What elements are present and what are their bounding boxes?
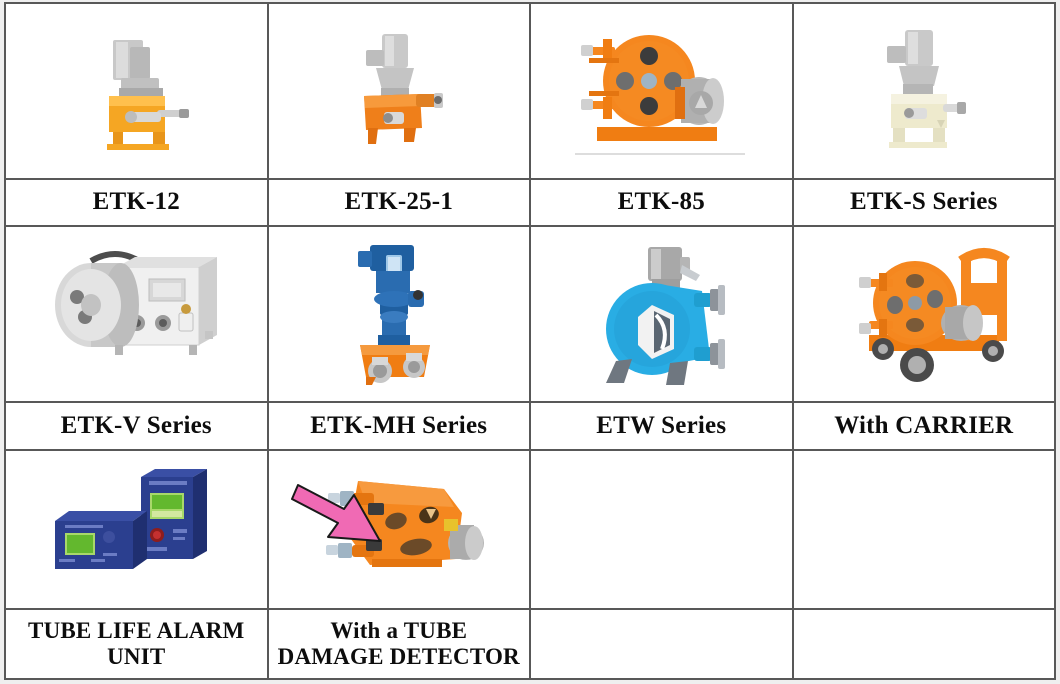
label-inset-frame: ETK-25-1 [269, 180, 530, 226]
cell-label-tube-life-alarm-unit: TUBE LIFE ALARMUNIT [5, 609, 268, 679]
cell-image-with-carrier [793, 226, 1056, 402]
cell-label-etk-mh-series: ETK-MH Series [268, 402, 531, 450]
product-label-etk-25-1: ETK-25-1 [340, 188, 457, 216]
label-inset-frame: ETK-V Series [6, 403, 267, 449]
cell-image-empty-2 [793, 450, 1056, 609]
product-label-etk-s-series: ETK-S Series [846, 188, 1002, 216]
label-inset-frame: ETK-12 [6, 180, 267, 226]
table-row-labels-2: ETK-V Series ETK-MH Series ETW Series Wi… [5, 402, 1055, 450]
cell-image-etk-v-series [5, 226, 268, 402]
tube-life-alarm-unit-photo [6, 451, 267, 608]
label-inset-frame: ETK-S Series [794, 180, 1055, 226]
cell-label-with-carrier: With CARRIER [793, 402, 1056, 450]
table-row-images-1 [5, 3, 1055, 179]
etk-mh-series-pump-photo [269, 227, 530, 401]
table-row-images-2 [5, 226, 1055, 402]
product-label-etk-12: ETK-12 [89, 188, 184, 216]
cell-label-etk-s-series: ETK-S Series [793, 179, 1056, 227]
label-inset-frame: TUBE LIFE ALARMUNIT [6, 610, 267, 678]
product-label-etk-85: ETK-85 [614, 188, 709, 216]
product-label-etk-v-series: ETK-V Series [57, 412, 216, 440]
with-carrier-pump-photo [794, 227, 1055, 401]
label-inset-frame [531, 610, 792, 678]
cell-label-etk-v-series: ETK-V Series [5, 402, 268, 450]
cell-image-tube-life-alarm-unit [5, 450, 268, 609]
cell-image-etw-series [530, 226, 793, 402]
empty-cell [531, 451, 792, 608]
cell-label-etw-series: ETW Series [530, 402, 793, 450]
label-inset-frame: ETK-MH Series [269, 403, 530, 449]
label-inset-frame: ETW Series [531, 403, 792, 449]
product-lineup-table: ETK-12 ETK-25-1 ETK-85 ETK-S Series [4, 2, 1056, 680]
product-label-etw-series: ETW Series [592, 412, 730, 440]
cell-image-etk-mh-series [268, 226, 531, 402]
product-label-etk-mh-series: ETK-MH Series [306, 412, 491, 440]
label-inset-frame: ETK-85 [531, 180, 792, 226]
cell-label-etk-12: ETK-12 [5, 179, 268, 227]
cell-label-empty-1 [530, 609, 793, 679]
product-label-with-carrier: With CARRIER [830, 412, 1017, 440]
cell-image-etk-85 [530, 3, 793, 179]
label-inset-frame [794, 610, 1055, 678]
etw-series-pump-photo [531, 227, 792, 401]
table-row-images-3 [5, 450, 1055, 609]
etk-85-pump-photo [531, 4, 792, 178]
product-label-tube-damage-detector: With a TUBEDAMAGE DETECTOR [274, 618, 524, 670]
etk-25-1-pump-photo [269, 4, 530, 178]
cell-image-etk-25-1 [268, 3, 531, 179]
cell-label-etk-85: ETK-85 [530, 179, 793, 227]
empty-cell-2 [794, 451, 1055, 608]
cell-image-tube-damage-detector [268, 450, 531, 609]
etk-12-pump-photo [6, 4, 267, 178]
tube-damage-detector-photo [269, 451, 530, 608]
cell-image-etk-s-series [793, 3, 1056, 179]
cell-image-empty-1 [530, 450, 793, 609]
etk-v-series-pump-photo [6, 227, 267, 401]
product-table-page: ETK-12 ETK-25-1 ETK-85 ETK-S Series [0, 0, 1060, 684]
table-row-labels-1: ETK-12 ETK-25-1 ETK-85 ETK-S Series [5, 179, 1055, 227]
label-inset-frame: With a TUBEDAMAGE DETECTOR [269, 610, 530, 678]
cell-label-tube-damage-detector: With a TUBEDAMAGE DETECTOR [268, 609, 531, 679]
cell-image-etk-12 [5, 3, 268, 179]
table-row-labels-3: TUBE LIFE ALARMUNIT With a TUBEDAMAGE DE… [5, 609, 1055, 679]
product-label-tube-life-alarm-unit: TUBE LIFE ALARMUNIT [24, 618, 248, 670]
cell-label-etk-25-1: ETK-25-1 [268, 179, 531, 227]
cell-label-empty-2 [793, 609, 1056, 679]
etk-s-series-pump-photo [794, 4, 1055, 178]
label-inset-frame: With CARRIER [794, 403, 1055, 449]
